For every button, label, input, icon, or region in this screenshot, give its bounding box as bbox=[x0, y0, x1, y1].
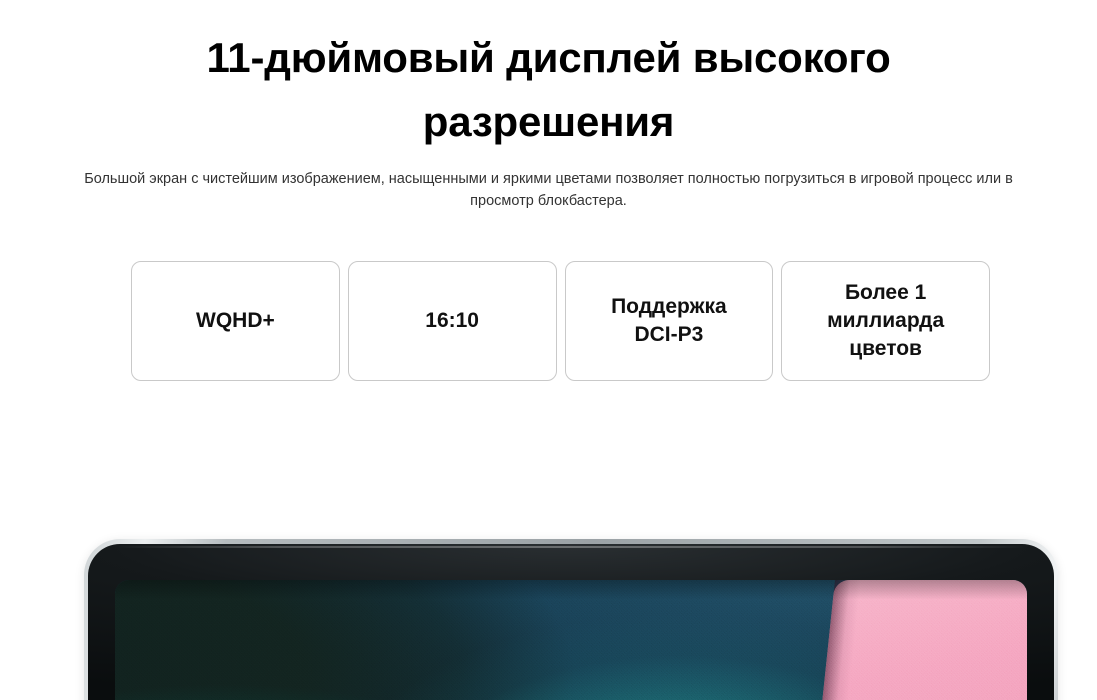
tablet-bezel bbox=[88, 544, 1054, 700]
page-title: 11-дюймовый дисплей высокого разрешения bbox=[0, 26, 1097, 154]
spec-card-label: Более 1 миллиарда цветов bbox=[827, 279, 944, 363]
spec-card-resolution[interactable]: WQHD+ bbox=[131, 261, 340, 381]
spec-card-color-depth[interactable]: Более 1 миллиарда цветов bbox=[781, 261, 990, 381]
bezel-highlight bbox=[114, 546, 1028, 548]
tablet-device bbox=[84, 539, 1058, 700]
tablet-screen bbox=[115, 580, 1027, 700]
display-feature-section: 11-дюймовый дисплей высокого разрешения … bbox=[0, 0, 1097, 700]
spec-card-aspect-ratio[interactable]: 16:10 bbox=[348, 261, 557, 381]
spec-card-label: Поддержка DCI-P3 bbox=[611, 293, 727, 349]
screen-top-shade bbox=[115, 580, 1027, 700]
spec-card-label: WQHD+ bbox=[196, 307, 275, 335]
tablet-frame bbox=[84, 539, 1058, 700]
spec-card-color-gamut[interactable]: Поддержка DCI-P3 bbox=[565, 261, 774, 381]
spec-card-label: 16:10 bbox=[425, 307, 479, 335]
page-subtitle: Большой экран с чистейшим изображением, … bbox=[59, 168, 1039, 212]
spec-card-row: WQHD+ 16:10 Поддержка DCI-P3 Более 1 мил… bbox=[131, 261, 990, 381]
